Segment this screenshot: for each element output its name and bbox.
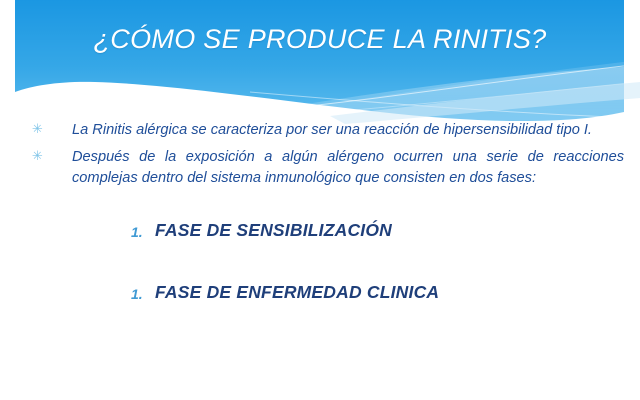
list-item: ✳ La Rinitis alérgica se caracteriza por… [0,120,640,141]
list-item: ✳ Después de la exposición a algún alérg… [0,147,640,189]
asterisk-bullet-icon: ✳ [32,148,43,166]
page-title: ¿CÓMO SE PRODUCE LA RINITIS? [16,22,624,56]
phase-list: 1. FASE DE SENSIBILIZACIÓN 1. FASE DE EN… [0,217,640,309]
asterisk-bullet-icon: ✳ [32,121,43,139]
phase-label: FASE DE SENSIBILIZACIÓN [155,217,392,243]
phase-label: FASE DE ENFERMEDAD CLINICA [155,279,439,305]
list-item: 1. FASE DE ENFERMEDAD CLINICA [0,279,640,309]
list-number: 1. [131,283,143,305]
bullet-text: Después de la exposición a algún alérgen… [72,147,624,189]
slide-body: ✳ La Rinitis alérgica se caracteriza por… [0,120,640,400]
banner-wave-graphic [0,0,640,130]
list-number: 1. [131,221,143,243]
title-banner: ¿CÓMO SE PRODUCE LA RINITIS? [0,0,640,130]
bullet-text: La Rinitis alérgica se caracteriza por s… [72,120,624,141]
presentation-slide: ¿CÓMO SE PRODUCE LA RINITIS? ✳ La Riniti… [0,0,640,400]
list-item: 1. FASE DE SENSIBILIZACIÓN [0,217,640,247]
